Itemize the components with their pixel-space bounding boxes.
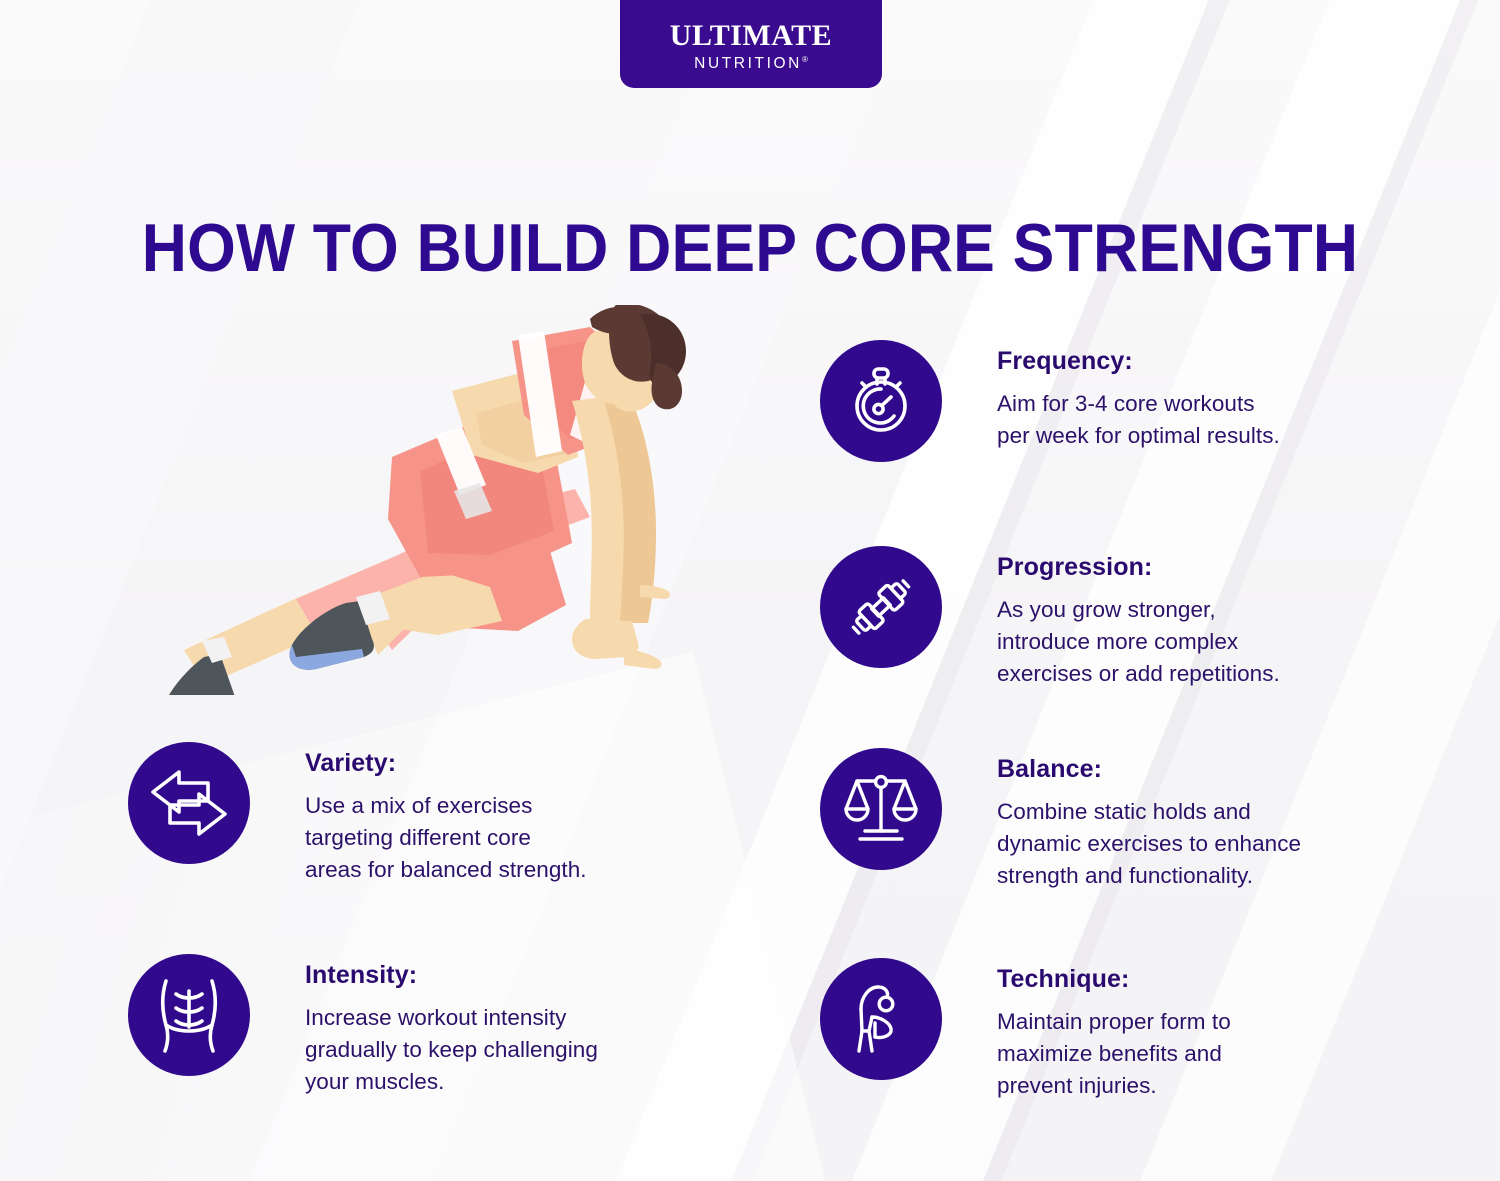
brand-logo-secondary-word: NUTRITION (694, 56, 802, 73)
brand-logo: Ultimate NUTRITION® (620, 0, 882, 88)
brand-logo-primary-text: Ultimate (670, 21, 832, 51)
tip-frequency-heading: Frequency: (997, 348, 1280, 376)
tip-balance-description: Combine static holds and dynamic exercis… (997, 796, 1301, 893)
tip-progression-description: As you grow stronger, introduce more com… (997, 594, 1280, 691)
tip-balance: Balance: Combine static holds and dynami… (820, 748, 1301, 893)
two-way-arrows-icon (150, 766, 228, 840)
hero-illustration (120, 305, 720, 695)
tip-frequency-body: Frequency: Aim for 3-4 core workouts per… (997, 340, 1280, 452)
person-stretching-icon (845, 983, 917, 1055)
tip-variety-body: Variety: Use a mix of exercises targetin… (305, 742, 587, 887)
tip-variety-description: Use a mix of exercises targeting differe… (305, 790, 587, 887)
tip-balance-body: Balance: Combine static holds and dynami… (997, 748, 1301, 893)
tip-variety: Variety: Use a mix of exercises targetin… (128, 742, 587, 887)
tip-progression-body: Progression: As you grow stronger, intro… (997, 546, 1280, 691)
infographic-poster: Ultimate NUTRITION® HOW TO BUILD DEEP CO… (0, 0, 1500, 1181)
tip-variety-badge (128, 742, 250, 864)
tip-intensity-body: Intensity: Increase workout intensity gr… (305, 954, 598, 1099)
dumbbell-icon (843, 569, 919, 645)
brand-logo-secondary-text: NUTRITION® (694, 56, 808, 72)
woman-plank-exercise-illustration (120, 305, 720, 695)
tip-intensity-heading: Intensity: (305, 962, 598, 990)
tip-intensity: Intensity: Increase workout intensity gr… (128, 954, 598, 1099)
tip-technique: Technique: Maintain proper form to maxim… (820, 958, 1231, 1103)
tip-technique-heading: Technique: (997, 966, 1231, 994)
tip-technique-body: Technique: Maintain proper form to maxim… (997, 958, 1231, 1103)
tip-frequency-description: Aim for 3-4 core workouts per week for o… (997, 388, 1280, 453)
tip-variety-heading: Variety: (305, 750, 587, 778)
tip-progression: Progression: As you grow stronger, intro… (820, 546, 1280, 691)
tip-intensity-badge (128, 954, 250, 1076)
tip-frequency-badge (820, 340, 942, 462)
page-title: HOW TO BUILD DEEP CORE STRENGTH (60, 214, 1440, 282)
stopwatch-icon (844, 364, 918, 438)
balance-scale-icon (843, 771, 919, 847)
tip-progression-badge (820, 546, 942, 668)
registered-trademark-symbol: ® (802, 55, 808, 64)
tip-frequency: Frequency: Aim for 3-4 core workouts per… (820, 340, 1280, 462)
tip-technique-badge (820, 958, 942, 1080)
tip-progression-heading: Progression: (997, 554, 1280, 582)
tip-balance-heading: Balance: (997, 756, 1301, 784)
tip-technique-description: Maintain proper form to maximize benefit… (997, 1006, 1231, 1103)
tip-balance-badge (820, 748, 942, 870)
abdominal-muscles-icon (152, 977, 226, 1053)
tip-intensity-description: Increase workout intensity gradually to … (305, 1002, 598, 1099)
